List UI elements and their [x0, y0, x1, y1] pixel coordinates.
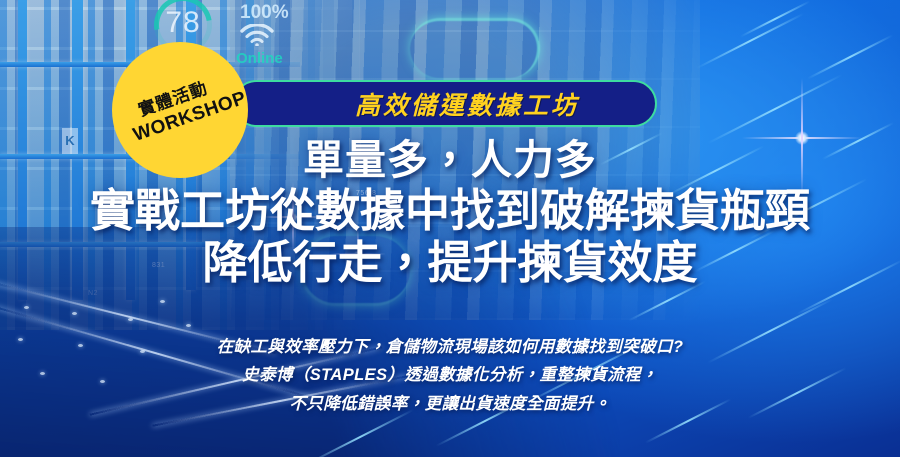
promo-banner: K 13-7 756-8 831 N2 78 EFFICIENCY 100% O…	[0, 0, 900, 457]
wifi-icon	[240, 24, 274, 46]
headline-line-1: 單量多，人力多	[0, 138, 900, 184]
floor-marker	[186, 324, 191, 327]
hud-status-text: Online	[236, 50, 283, 67]
headline-line-2: 實戰工坊從數據中找到破解揀貨瓶頸	[0, 186, 900, 236]
hud-sub-label: EFFICIENCY	[240, 0, 287, 1]
cyan-glow-trail	[410, 18, 540, 78]
body-line-3: 不只降低錯誤率，更讓出貨速度全面提升。	[0, 390, 900, 418]
floor-marker	[160, 300, 165, 303]
event-title-pill: 高效儲運數據工坊	[233, 80, 657, 127]
body-line-2: 史泰博（STAPLES）透過數據化分析，重整揀貨流程，	[0, 361, 900, 389]
body-line-1: 在缺工與效率壓力下，倉儲物流現場該如何用數據找到突破口?	[0, 333, 900, 361]
floor-marker	[24, 306, 29, 309]
event-title-text: 高效儲運數據工坊	[311, 86, 579, 122]
headline-block: 單量多，人力多 實戰工坊從數據中找到破解揀貨瓶頸 降低行走，提升揀貨效度	[0, 138, 900, 289]
hud-percent-value: 100%	[240, 2, 289, 24]
floor-marker	[128, 318, 133, 321]
headline-line-3: 降低行走，提升揀貨效度	[0, 238, 900, 288]
floor-marker	[72, 312, 77, 315]
body-copy-block: 在缺工與效率壓力下，倉儲物流現場該如何用數據找到突破口? 史泰博（STAPLES…	[0, 333, 900, 418]
